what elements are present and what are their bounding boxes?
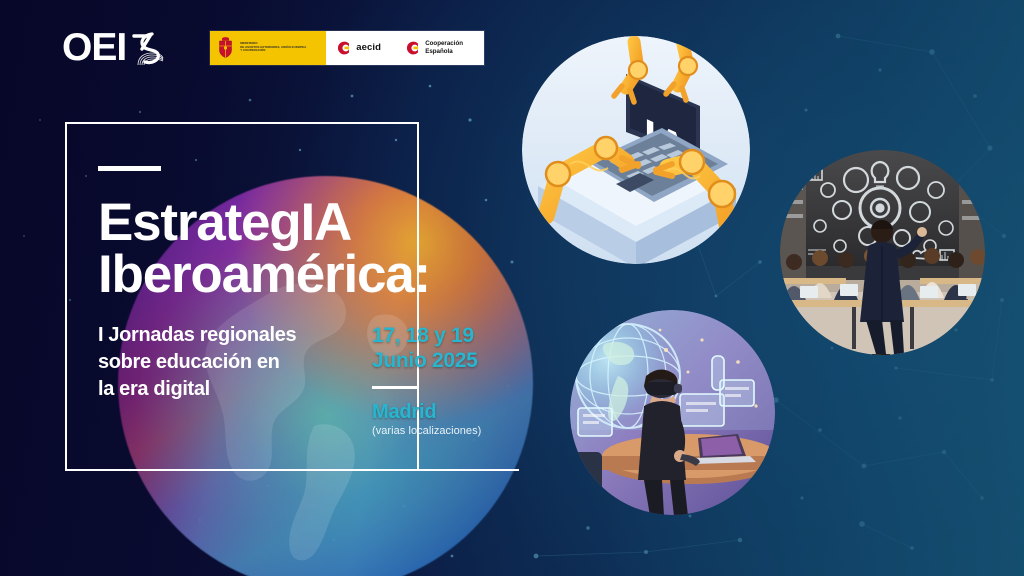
ministry-logo: MINISTERIO DE ASUNTOS EXTERIORES, UNIÓN … <box>210 31 326 65</box>
cooperacion-espanola-logo: Cooperación Española <box>396 31 484 65</box>
subtitle-line-1: I Jornadas regionales <box>98 324 296 346</box>
header-logos: OEI <box>62 28 484 67</box>
oei-75-anniversary-icon <box>130 29 164 67</box>
classroom-lecture-photo <box>780 150 985 355</box>
coop-line-1: Cooperación <box>425 40 463 47</box>
date-rule <box>372 386 419 389</box>
ministry-name: MINISTERIO DE ASUNTOS EXTERIORES, UNIÓN … <box>240 42 306 53</box>
event-city-note: (varias localizaciones) <box>372 425 481 437</box>
robotic-arms-laptop-ia-illustration: IA <box>522 36 750 264</box>
cooperacion-espanola-c-mark-icon <box>404 40 420 56</box>
spain-coat-of-arms-icon <box>217 37 234 59</box>
dates-line-1: 17, 18 y 19 <box>372 324 474 347</box>
oei-wordmark: OEI <box>62 28 126 67</box>
aecid-c-mark-icon <box>335 40 351 56</box>
virtual-reality-user-photo <box>570 310 775 515</box>
page-title: EstrategIA Iberoamérica: <box>98 197 518 302</box>
aecid-logo: aecid <box>327 31 395 65</box>
title-rule <box>98 166 161 171</box>
subtitle-line-3: la era digital <box>98 378 210 400</box>
government-logos-bar[interactable]: MINISTERIO DE ASUNTOS EXTERIORES, UNIÓN … <box>210 31 484 65</box>
event-dates: 17, 18 y 19 Junio 2025 <box>372 323 481 373</box>
subtitle-line-2: sobre educación en <box>98 351 280 373</box>
dates-line-2: Junio 2025 <box>372 348 481 373</box>
main-content: EstrategIA Iberoamérica: I Jornadas regi… <box>98 166 518 437</box>
title-line-2: Iberoamérica: <box>98 249 518 301</box>
coop-line-2: Española <box>425 48 453 55</box>
date-location-block: 17, 18 y 19 Junio 2025 Madrid (varias lo… <box>372 322 481 437</box>
event-subtitle: I Jornadas regionales sobre educación en… <box>98 322 338 402</box>
content-frame-notch <box>419 444 519 471</box>
aecid-label: aecid <box>356 42 381 53</box>
oei-logo[interactable]: OEI <box>62 28 164 67</box>
cooperacion-espanola-label: Cooperación Española <box>425 40 463 56</box>
subtitle-and-date-row: I Jornadas regionales sobre educación en… <box>98 322 518 437</box>
title-line-1: EstrategIA <box>98 193 351 252</box>
event-city: Madrid <box>372 401 481 424</box>
ministry-line-3: Y COOPERACIÓN <box>240 48 265 52</box>
event-poster: OEI <box>0 0 1024 576</box>
